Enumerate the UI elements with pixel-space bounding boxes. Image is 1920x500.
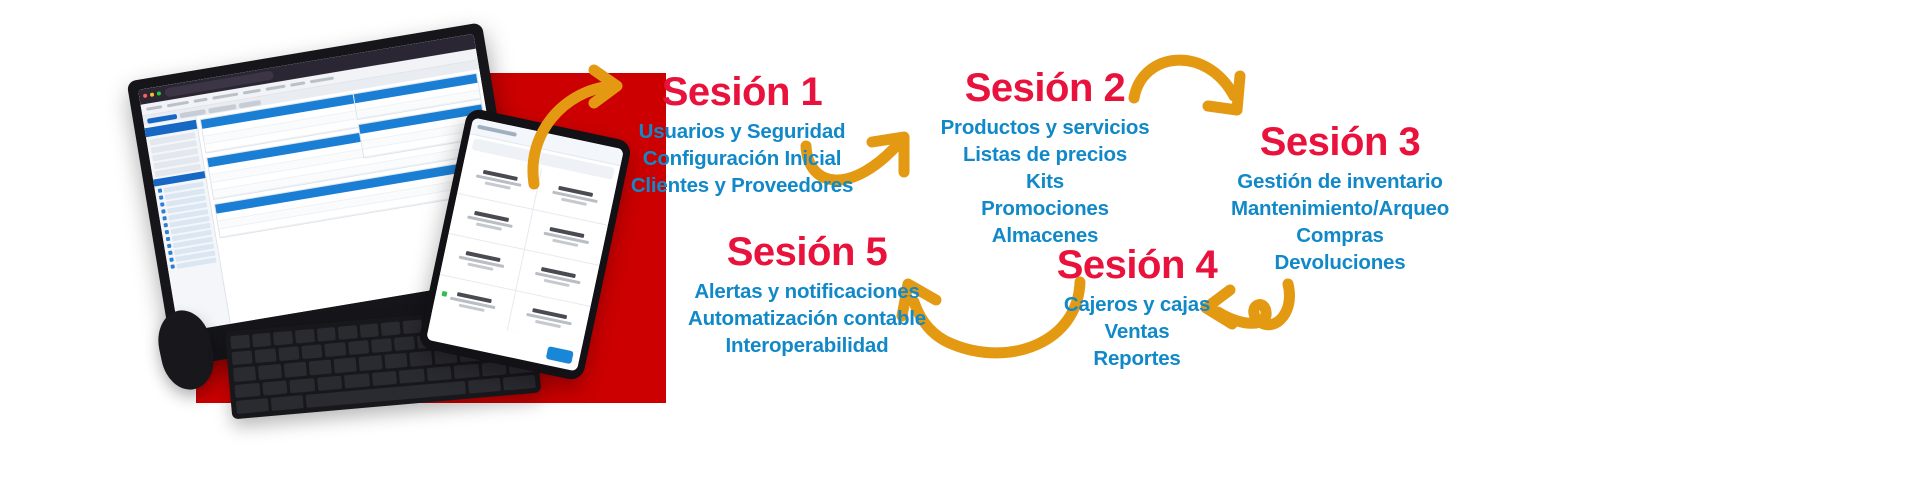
session-1-topic: Clientes y Proveedores: [612, 172, 872, 199]
session-1-topic: Usuarios y Seguridad: [612, 118, 872, 145]
session-3-topic: Mantenimiento/Arqueo: [1190, 195, 1490, 222]
session-4-title: Sesión 4: [1012, 245, 1262, 285]
session-1-title: Sesión 1: [612, 72, 872, 112]
session-block-4: Sesión 4 Cajeros y cajas Ventas Reportes: [1012, 245, 1262, 372]
session-1-topic: Configuración Inicial: [612, 145, 872, 172]
tablet-primary-button: [546, 346, 574, 364]
session-1-topics: Usuarios y Seguridad Configuración Inici…: [612, 118, 872, 199]
session-4-topics: Cajeros y cajas Ventas Reportes: [1012, 291, 1262, 372]
session-4-topic: Ventas: [1012, 318, 1262, 345]
infographic-canvas: Sesión 1 Usuarios y Seguridad Configurac…: [0, 0, 1920, 500]
session-3-title: Sesión 3: [1190, 122, 1490, 162]
session-3-topic: Gestión de inventario: [1190, 168, 1490, 195]
session-5-topics: Alertas y notificaciones Automatización …: [672, 278, 942, 359]
session-4-topic: Reportes: [1012, 345, 1262, 372]
status-indicator-dot: [442, 291, 448, 297]
session-2-topic: Kits: [920, 168, 1170, 195]
window-control-dots: [143, 91, 161, 98]
session-4-topic: Cajeros y cajas: [1012, 291, 1262, 318]
session-block-2: Sesión 2 Productos y servicios Listas de…: [920, 68, 1170, 249]
session-2-title: Sesión 2: [920, 68, 1170, 108]
session-5-topic: Automatización contable: [672, 305, 942, 332]
session-2-topic: Listas de precios: [920, 141, 1170, 168]
session-2-topic: Promociones: [920, 195, 1170, 222]
device-illustration: [0, 0, 620, 500]
session-5-title: Sesión 5: [672, 232, 942, 272]
session-block-1: Sesión 1 Usuarios y Seguridad Configurac…: [612, 72, 872, 199]
session-block-5: Sesión 5 Alertas y notificaciones Automa…: [672, 232, 942, 359]
session-5-topic: Interoperabilidad: [672, 332, 942, 359]
session-2-topics: Productos y servicios Listas de precios …: [920, 114, 1170, 249]
session-2-topic: Productos y servicios: [920, 114, 1170, 141]
session-5-topic: Alertas y notificaciones: [672, 278, 942, 305]
